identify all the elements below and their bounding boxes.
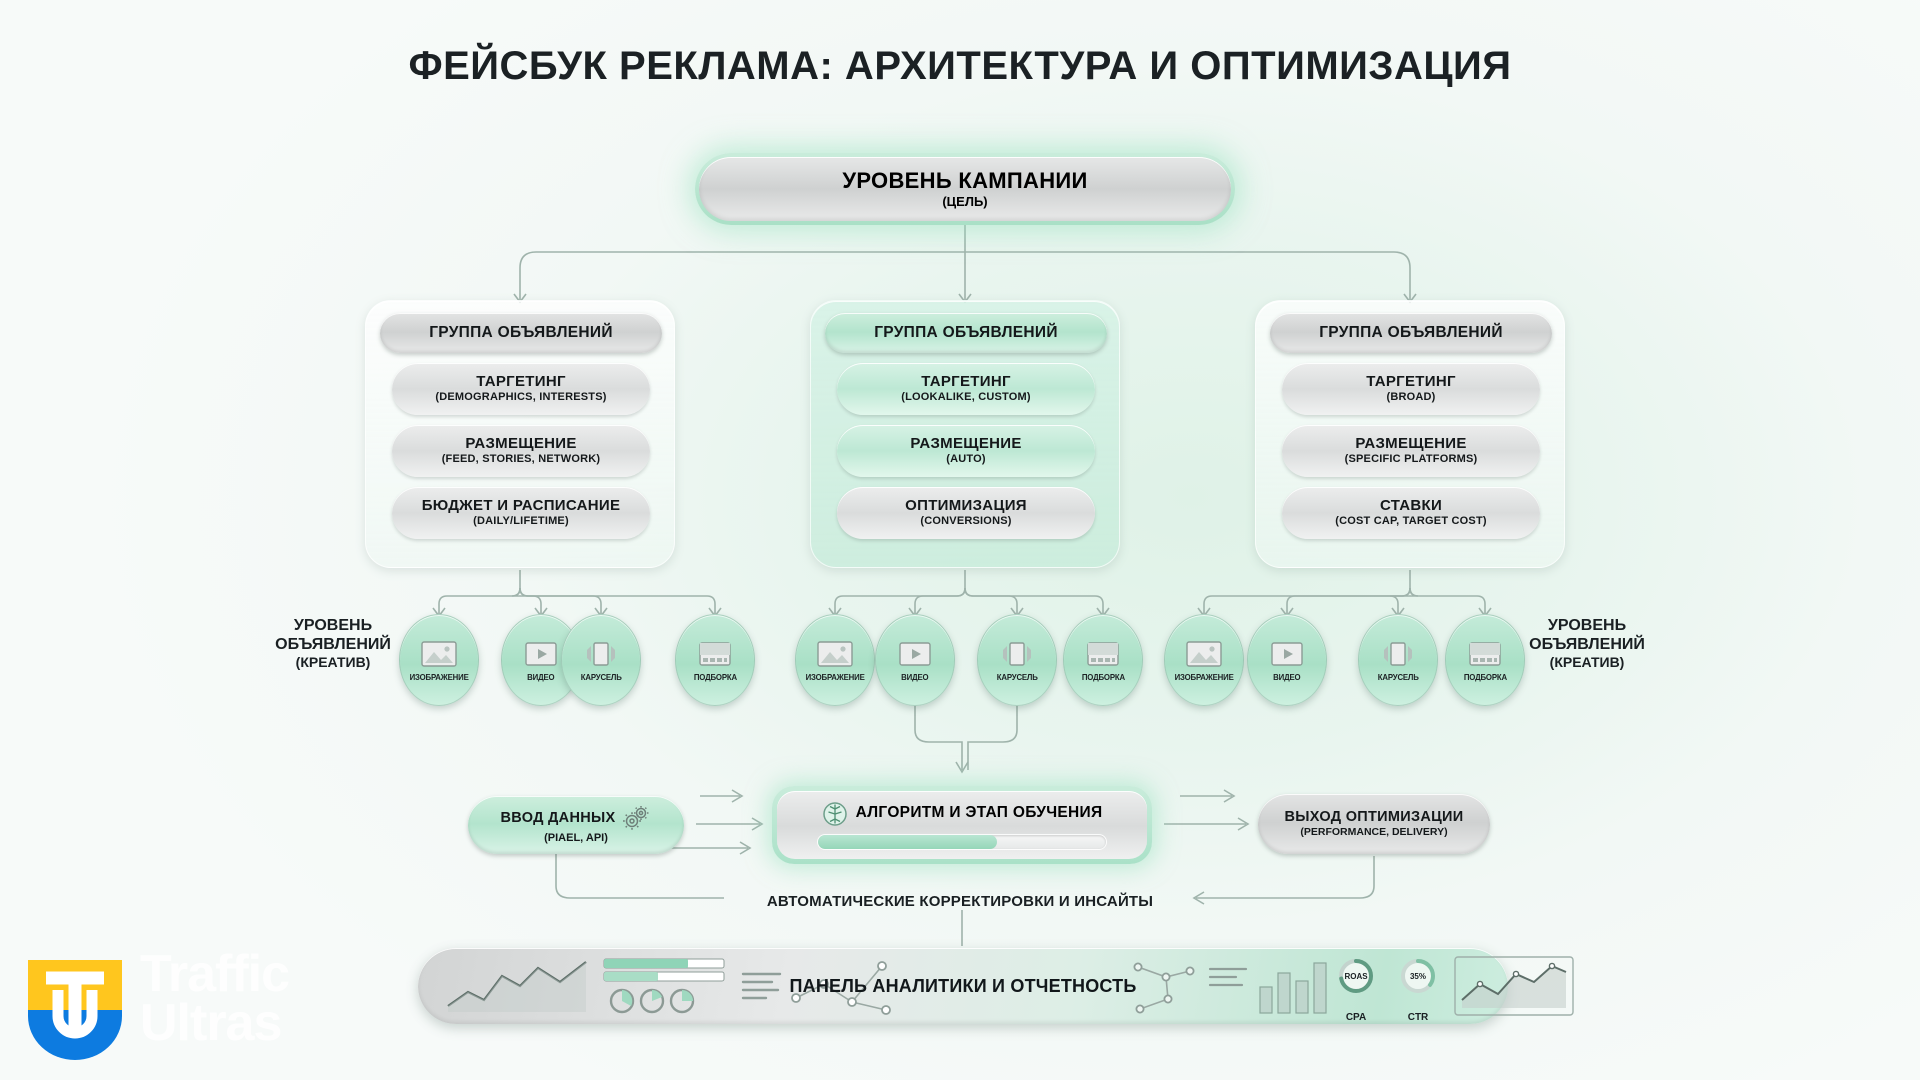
creative-carousel-2[interactable]: КАРУСЕЛЬ xyxy=(977,614,1057,706)
creative-image-2[interactable]: ИЗОБРАЖЕНИЕ xyxy=(795,614,875,706)
adgroup-1-header[interactable]: ГРУППА ОБЪЯВЛЕНИЙ xyxy=(380,313,662,353)
collection-icon xyxy=(695,639,735,669)
brand-line-1: Traffic xyxy=(140,950,289,999)
adgroup-3-header[interactable]: ГРУППА ОБЪЯВЛЕНИЙ xyxy=(1270,313,1552,353)
collection-icon xyxy=(1465,639,1505,669)
creative-image-1[interactable]: ИЗОБРАЖЕНИЕ xyxy=(399,614,479,706)
gauge-ctr-label: CTR xyxy=(1401,1012,1435,1023)
brand-line-2: Ultras xyxy=(140,999,289,1048)
campaign-title: УРОВЕНЬ КАМПАНИИ xyxy=(842,169,1087,192)
gauge-cpa-value: ROAS xyxy=(1344,972,1368,981)
creative-carousel-3[interactable]: КАРУСЕЛЬ xyxy=(1358,614,1438,706)
creative-level-label-right: УРОВЕНЬ ОБЪЯВЛЕНИЙ (КРЕАТИВ) xyxy=(1522,616,1652,671)
donut-gauge-icon: 35% xyxy=(1398,956,1438,996)
adgroup-2-header-label: ГРУППА ОБЪЯВЛЕНИЙ xyxy=(874,325,1058,341)
video-icon xyxy=(895,639,935,669)
creative-video-3[interactable]: ВИДЕО xyxy=(1247,614,1327,706)
adgroup-1-header-label: ГРУППА ОБЪЯВЛЕНИЙ xyxy=(429,325,613,341)
creative-video-2[interactable]: ВИДЕО xyxy=(875,614,955,706)
gauge-cpa-label: CPA xyxy=(1339,1012,1373,1023)
adgroup-3-bids[interactable]: СТАВКИ (COST CAP, TARGET COST) xyxy=(1282,487,1540,539)
adgroup-3-targeting[interactable]: ТАРГЕТИНГ (BROAD) xyxy=(1282,363,1540,415)
image-icon xyxy=(419,639,459,669)
adgroup-2-header[interactable]: ГРУППА ОБЪЯВЛЕНИЙ xyxy=(825,313,1107,353)
adgroup-2-targeting[interactable]: ТАРГЕТИНГ (LOOKALIKE, CUSTOM) xyxy=(837,363,1095,415)
learning-progress-bar[interactable] xyxy=(817,834,1107,850)
gears-icon xyxy=(621,805,651,831)
area-chart-widget xyxy=(1454,956,1574,1016)
gauge-cpa[interactable]: ROAS CPA xyxy=(1336,956,1376,996)
adgroup-3-header-label: ГРУППА ОБЪЯВЛЕНИЙ xyxy=(1319,325,1503,341)
creative-collection-3[interactable]: ПОДБОРКА xyxy=(1445,614,1525,706)
adgroup-column-1[interactable]: ГРУППА ОБЪЯВЛЕНИЙ ТАРГЕТИНГ (DEMOGRAPHIC… xyxy=(365,300,675,568)
brand-logo: Traffic Ultras xyxy=(8,950,408,1070)
adgroup-2-placement[interactable]: РАЗМЕЩЕНИЕ (AUTO) xyxy=(837,425,1095,477)
video-icon xyxy=(521,639,561,669)
donut-gauge-icon: ROAS xyxy=(1336,956,1376,996)
video-icon xyxy=(1267,639,1307,669)
algorithm-title: АЛГОРИТМ И ЭТАП ОБУЧЕНИЯ xyxy=(856,805,1103,821)
diagram-canvas: ФЕЙСБУК РЕКЛАМА: АРХИТЕКТУРА И ОПТИМИЗАЦ… xyxy=(0,0,1920,1080)
algorithm-node[interactable]: АЛГОРИТМ И ЭТАП ОБУЧЕНИЯ xyxy=(772,786,1152,864)
image-icon xyxy=(815,639,855,669)
optimization-output-node[interactable]: ВЫХОД ОПТИМИЗАЦИИ (PERFORMANCE, DELIVERY… xyxy=(1258,794,1490,854)
creative-collection-1[interactable]: ПОДБОРКА xyxy=(675,614,755,706)
campaign-subtitle: (ЦЕЛЬ) xyxy=(942,195,987,209)
collection-icon xyxy=(1083,639,1123,669)
creative-image-3[interactable]: ИЗОБРАЖЕНИЕ xyxy=(1164,614,1244,706)
creative-collection-2[interactable]: ПОДБОРКА xyxy=(1063,614,1143,706)
gauge-ctr[interactable]: 35% CTR xyxy=(1398,956,1438,996)
adgroup-3-placement[interactable]: РАЗМЕЩЕНИЕ (SPECIFIC PLATFORMS) xyxy=(1282,425,1540,477)
bar-chart-widget xyxy=(1256,957,1328,1015)
network-graph-widget-2 xyxy=(1132,955,1252,1017)
image-icon xyxy=(1184,639,1224,669)
adgroup-1-placement[interactable]: РАЗМЕЩЕНИЕ (FEED, STORIES, NETWORK) xyxy=(392,425,650,477)
gauge-ctr-value: 35% xyxy=(1410,972,1426,981)
carousel-icon xyxy=(581,639,621,669)
brand-wordmark: Traffic Ultras xyxy=(140,950,289,1049)
carousel-icon xyxy=(1378,639,1418,669)
adgroup-1-targeting[interactable]: ТАРГЕТИНГ (DEMOGRAPHICS, INTERESTS) xyxy=(392,363,650,415)
brain-icon xyxy=(822,801,848,827)
adgroup-column-3[interactable]: ГРУППА ОБЪЯВЛЕНИЙ ТАРГЕТИНГ (BROAD) РАЗМ… xyxy=(1255,300,1565,568)
campaign-level-node[interactable]: УРОВЕНЬ КАМПАНИИ (ЦЕЛЬ) xyxy=(695,153,1235,225)
feedback-loop-label: АВТОМАТИЧЕСКИЕ КОРРЕКТИРОВКИ И ИНСАЙТЫ xyxy=(0,893,1920,910)
traffic-ultras-mark-icon xyxy=(20,956,130,1064)
creative-carousel-1[interactable]: КАРУСЕЛЬ xyxy=(561,614,641,706)
creative-level-label-left: УРОВЕНЬ ОБЪЯВЛЕНИЙ (КРЕАТИВ) xyxy=(268,616,398,671)
data-input-node[interactable]: ВВОД ДАННЫХ (PIAEL, API) xyxy=(468,796,684,854)
analytics-dashboard-panel[interactable]: ПАНЕЛЬ АНАЛИТИКИ И ОТЧЕТНОСТЬ xyxy=(418,948,1508,1024)
adgroup-column-2[interactable]: ГРУППА ОБЪЯВЛЕНИЙ ТАРГЕТИНГ (LOOKALIKE, … xyxy=(810,300,1120,568)
learning-progress-fill xyxy=(818,835,997,849)
page-title: ФЕЙСБУК РЕКЛАМА: АРХИТЕКТУРА И ОПТИМИЗАЦ… xyxy=(0,44,1920,89)
adgroup-1-budget[interactable]: БЮДЖЕТ И РАСПИСАНИЕ (DAILY/LIFETIME) xyxy=(392,487,650,539)
carousel-icon xyxy=(997,639,1037,669)
adgroup-2-optimization[interactable]: ОПТИМИЗАЦИЯ (CONVERSIONS) xyxy=(837,487,1095,539)
